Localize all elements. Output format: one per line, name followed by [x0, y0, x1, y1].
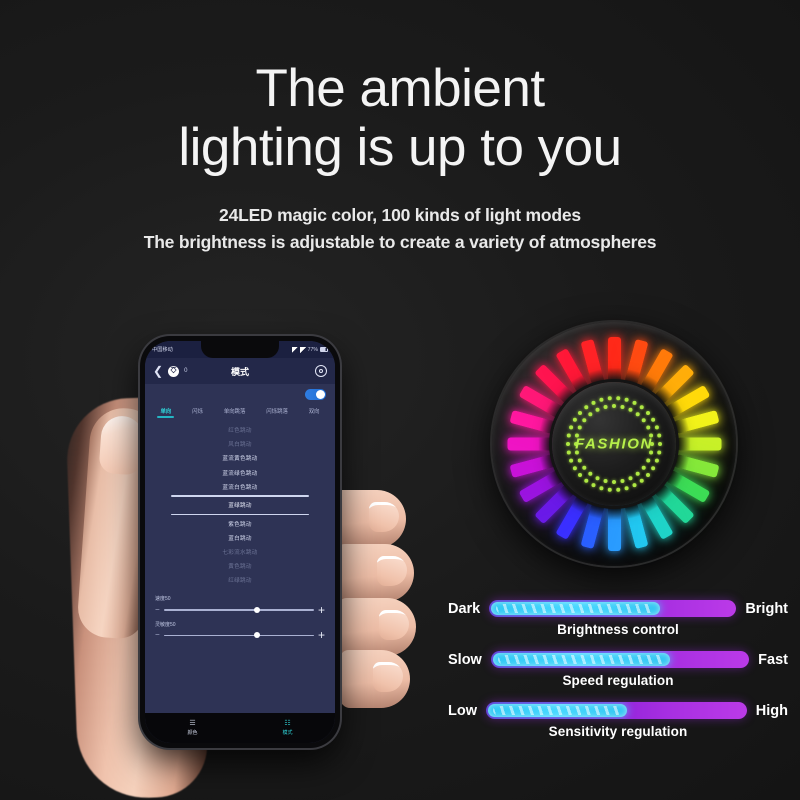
phone-sliders: 速度50 − + 灵敏度50 − + [145, 589, 335, 650]
speed-slider-fill [493, 653, 670, 666]
headline: The ambient lighting is up to you [0, 62, 800, 175]
led-dot [569, 459, 573, 463]
led-dot [657, 450, 661, 454]
brightness-slider-group: Dark Bright Brightness control [448, 600, 788, 637]
mode-list: 红色跳动 风白跳动 蓝流黄色跳动 蓝流绿色跳动 蓝流白色跳动 蓝绿跳动 紫色跳动… [145, 418, 335, 589]
speed-slider-row-2: Slow Fast [448, 651, 788, 668]
finger-pinky [340, 650, 410, 708]
led-dot [616, 488, 620, 492]
phone-notch [201, 341, 279, 358]
bottom-nav-color[interactable]: ☰ 颜色 [145, 713, 240, 743]
minus-icon[interactable]: − [155, 606, 160, 614]
led-dot [578, 473, 582, 477]
sensitivity-slider-track-2[interactable] [486, 702, 747, 719]
sensitivity-slider-row-2: Low High [448, 702, 788, 719]
speed-slider-label: 速度50 [155, 595, 325, 602]
plus-icon[interactable]: + [318, 604, 325, 616]
led-dot [588, 472, 592, 476]
led-dot [608, 396, 612, 400]
speed-slider-group: Slow Fast Speed regulation [448, 651, 788, 688]
finger-middle [336, 544, 414, 602]
poster-background: The ambient lighting is up to you 24LED … [0, 0, 800, 800]
led-dot [582, 466, 586, 470]
list-item[interactable]: 蓝白跳动 [145, 531, 335, 545]
headline-line-2: lighting is up to you [0, 121, 800, 176]
led-dot [569, 425, 573, 429]
bottom-nav-mode-label: 模式 [282, 729, 292, 736]
led-dot [595, 476, 599, 480]
gear-icon[interactable] [315, 365, 327, 377]
plus-icon-2[interactable]: + [318, 629, 325, 641]
sensitivity-caption: Sensitivity regulation [448, 724, 788, 739]
led-dot [573, 466, 577, 470]
grid-icon: ☷ [284, 720, 290, 727]
brightness-right-label: Bright [745, 601, 788, 617]
sensitivity-slider-track[interactable] [164, 635, 314, 636]
led-segment [677, 438, 721, 451]
led-dot [599, 486, 603, 490]
back-icon[interactable]: ❮ [153, 365, 163, 377]
list-item[interactable]: 蓝流黄色跳动 [145, 451, 335, 465]
led-dot [578, 411, 582, 415]
speed-slider-row[interactable]: − + [155, 604, 325, 616]
app-navbar: ❮ ⎏ 0 模式 [145, 358, 335, 384]
led-dot [646, 473, 650, 477]
led-dot [624, 486, 628, 490]
list-item[interactable]: 蓝流绿色跳动 [145, 466, 335, 480]
mode-tabs: 单向 闪烁 单向跳落 闪烁跳落 双向 [145, 404, 335, 418]
sensitivity-right-label: High [756, 703, 788, 719]
list-divider-top [171, 495, 309, 496]
led-dot [628, 476, 632, 480]
list-item[interactable]: 风白跳动 [145, 437, 335, 451]
led-dot [640, 479, 644, 483]
brightness-caption: Brightness control [448, 622, 788, 637]
led-dot [640, 405, 644, 409]
hand-holding-phone: 中国移动 77% ❮ ⎏ 0 模式 [60, 320, 440, 800]
led-dot [651, 466, 655, 470]
led-dot [612, 480, 616, 484]
list-item[interactable]: 红绿跳动 [145, 573, 335, 587]
bluetooth-icon[interactable]: ⎏ [168, 366, 179, 377]
led-dot [582, 418, 586, 422]
led-dot [646, 411, 650, 415]
led-dot [584, 479, 588, 483]
speed-slider-track[interactable] [164, 609, 314, 610]
battery-percent: 77% [308, 347, 318, 353]
status-bar-left: 中国移动 [152, 346, 173, 353]
led-dot [616, 396, 620, 400]
led-dot [655, 425, 659, 429]
led-dot [588, 412, 592, 416]
list-item[interactable]: 红色跳动 [145, 423, 335, 437]
led-segment [608, 337, 621, 381]
list-item[interactable]: 紫色跳动 [145, 517, 335, 531]
sensitivity-slider-group: Low High Sensitivity regulation [448, 702, 788, 739]
led-dot [632, 401, 636, 405]
tab-4[interactable]: 双向 [309, 407, 320, 418]
bottom-nav: ☰ 颜色 ☷ 模式 [145, 713, 335, 743]
list-item-selected[interactable]: 蓝绿跳动 [145, 498, 335, 512]
power-toggle[interactable] [305, 389, 326, 400]
list-item[interactable]: 黄色跳动 [145, 559, 335, 573]
led-segment [507, 438, 551, 451]
led-dot [657, 433, 661, 437]
led-dot [658, 442, 662, 446]
tab-1[interactable]: 闪烁 [192, 407, 203, 418]
sensitivity-slider-fill [488, 704, 627, 717]
signal-icon-2 [300, 347, 306, 353]
headline-line-1: The ambient [0, 62, 800, 117]
led-dot [612, 404, 616, 408]
subheadline: 24LED magic color, 100 kinds of light mo… [0, 202, 800, 256]
tab-2[interactable]: 单向跳落 [224, 407, 246, 418]
carrier-label: 中国移动 [152, 346, 173, 353]
device-number: 0 [184, 368, 187, 374]
tab-3[interactable]: 闪烁跳落 [266, 407, 288, 418]
led-dot [578, 425, 582, 429]
bottom-nav-mode[interactable]: ☷ 模式 [240, 713, 335, 743]
led-dot [642, 418, 646, 422]
battery-icon [320, 347, 328, 352]
led-dot [632, 483, 636, 487]
led-dot [636, 412, 640, 416]
led-dot [603, 479, 607, 483]
list-icon: ☰ [189, 720, 195, 727]
device-brand-text: FASHION [575, 436, 653, 453]
power-toggle-row [145, 384, 335, 404]
subheadline-line-2: The brightness is adjustable to create a… [0, 229, 800, 256]
led-dot [642, 466, 646, 470]
speed-left-label: Slow [448, 652, 482, 668]
sensitivity-slider-knob[interactable] [254, 632, 260, 638]
speed-slider-knob[interactable] [254, 607, 260, 613]
brightness-left-label: Dark [448, 601, 480, 617]
feature-sliders: Dark Bright Brightness control Slow Fast… [448, 600, 788, 753]
bottom-nav-color-label: 颜色 [187, 729, 197, 736]
led-dot [567, 433, 571, 437]
list-divider-bottom [171, 514, 309, 515]
list-item[interactable]: 七彩流水跳动 [145, 545, 335, 559]
smartphone: 中国移动 77% ❮ ⎏ 0 模式 [140, 336, 340, 748]
brightness-slider-fill [491, 602, 660, 615]
signal-icon [292, 347, 298, 353]
led-dot [584, 405, 588, 409]
list-item[interactable]: 蓝流白色跳动 [145, 480, 335, 494]
brightness-slider-row: Dark Bright [448, 600, 788, 617]
minus-icon-2[interactable]: − [155, 631, 160, 639]
speed-right-label: Fast [758, 652, 788, 668]
led-dot [620, 479, 624, 483]
led-dot [646, 458, 650, 462]
speed-slider-track-2[interactable] [491, 651, 749, 668]
led-dot [620, 405, 624, 409]
led-dot [591, 401, 595, 405]
device-hub: FASHION [552, 382, 676, 506]
rgb-light-device: FASHION [492, 322, 736, 566]
led-dot [599, 398, 603, 402]
led-dot [628, 408, 632, 412]
led-dot [573, 418, 577, 422]
phone-screen: 中国移动 77% ❮ ⎏ 0 模式 [145, 341, 335, 743]
subheadline-line-1: 24LED magic color, 100 kinds of light mo… [0, 202, 800, 229]
led-dot [624, 398, 628, 402]
led-segment [608, 507, 621, 551]
led-dot [591, 483, 595, 487]
led-dot [603, 405, 607, 409]
led-dot [651, 418, 655, 422]
led-dot [595, 408, 599, 412]
led-dot [578, 458, 582, 462]
led-dot [646, 425, 650, 429]
speed-caption: Speed regulation [448, 673, 788, 688]
status-bar-right: 77% [292, 347, 328, 353]
tab-0[interactable]: 单向 [160, 407, 171, 418]
led-dot [566, 442, 570, 446]
page-title: 模式 [231, 365, 249, 378]
sensitivity-slider-row[interactable]: − + [155, 629, 325, 641]
led-dot [567, 450, 571, 454]
led-dot [636, 472, 640, 476]
finger-ring [338, 598, 416, 656]
sensitivity-slider-label: 灵敏度50 [155, 621, 325, 628]
led-dot [608, 488, 612, 492]
sensitivity-left-label: Low [448, 703, 477, 719]
brightness-slider-track[interactable] [489, 600, 736, 617]
led-dot [655, 459, 659, 463]
